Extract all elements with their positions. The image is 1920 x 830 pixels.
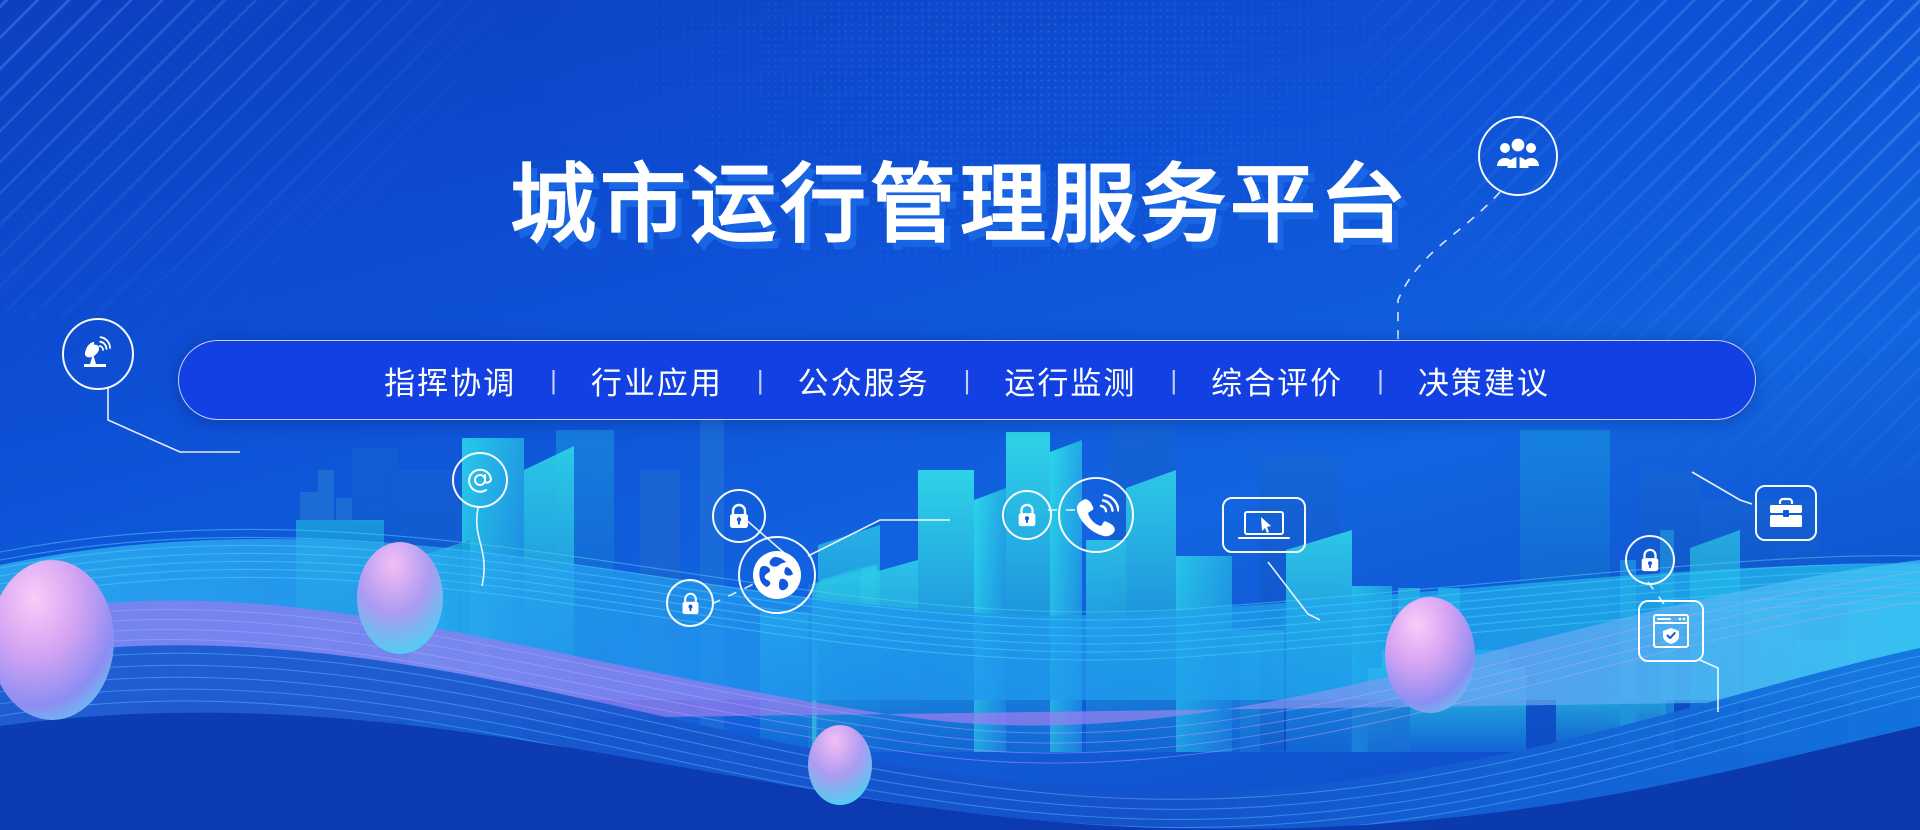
at-sign-icon[interactable]: [452, 452, 508, 508]
nav-item-decision-advice[interactable]: 决策建议: [1388, 358, 1580, 403]
nav-item-operation-monitoring[interactable]: 运行监测: [974, 358, 1166, 403]
lock-icon-3[interactable]: [1002, 490, 1052, 540]
nav-separator-3: |: [960, 365, 975, 396]
lock-icon-4[interactable]: [1625, 535, 1675, 585]
phone-signal-icon[interactable]: [1058, 477, 1134, 553]
nav-separator-1: |: [546, 365, 561, 396]
satellite-dish-icon[interactable]: [62, 318, 134, 390]
laptop-screen-icon[interactable]: [1222, 497, 1306, 553]
nav-item-industry-application[interactable]: 行业应用: [561, 358, 753, 403]
lock-icon-2[interactable]: [666, 579, 714, 627]
briefcase-icon[interactable]: [1755, 485, 1817, 541]
lock-icon-1[interactable]: [712, 489, 766, 543]
nav-item-comprehensive-evaluation[interactable]: 综合评价: [1181, 358, 1373, 403]
globe-icon[interactable]: [738, 536, 816, 614]
nav-item-command-coordination[interactable]: 指挥协调: [354, 358, 546, 403]
nav-separator-4: |: [1166, 365, 1181, 396]
browser-shield-icon[interactable]: [1638, 600, 1704, 662]
city-platform-banner: 城市运行管理服务平台 指挥协调 | 行业应用 | 公众服务 | 运行监测 | 综…: [0, 0, 1920, 830]
main-navigation-bar[interactable]: 指挥协调 | 行业应用 | 公众服务 | 运行监测 | 综合评价 | 决策建议: [178, 340, 1756, 420]
nav-item-public-service[interactable]: 公众服务: [768, 358, 960, 403]
nav-separator-2: |: [753, 365, 768, 396]
page-title: 城市运行管理服务平台: [510, 162, 1410, 248]
nav-separator-5: |: [1373, 365, 1388, 396]
banner-title-container: 城市运行管理服务平台: [0, 162, 1920, 248]
